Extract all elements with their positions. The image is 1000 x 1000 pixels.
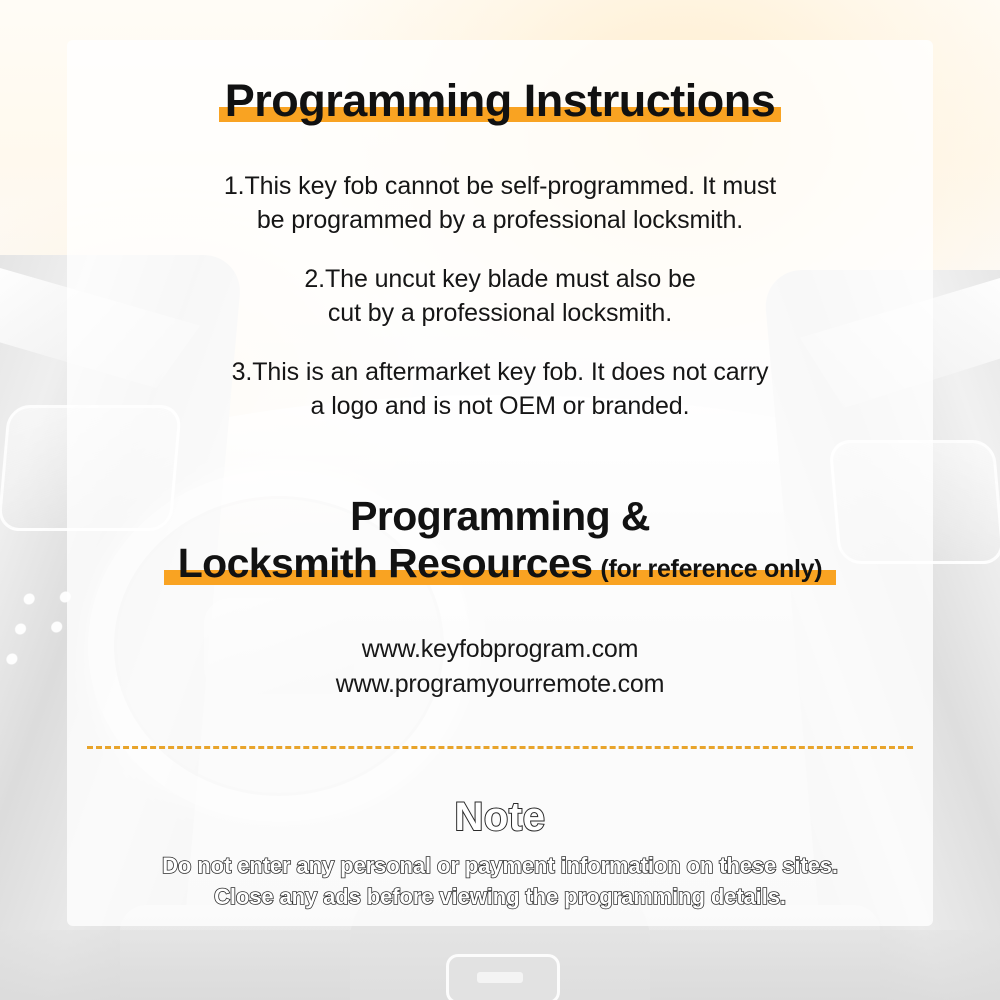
page-title-text: Programming Instructions — [225, 75, 776, 126]
resource-link-2[interactable]: www.programyourremote.com — [67, 667, 933, 702]
note-section: Note Do not enter any personal or paymen… — [67, 796, 933, 912]
resources-heading-line2-container: Locksmith Resources(for reference only) — [174, 540, 827, 587]
note-line-1: Do not enter any personal or payment inf… — [67, 850, 933, 881]
content-card: Programming Instructions 1.This key fob … — [67, 40, 933, 926]
note-title: Note — [67, 796, 933, 838]
dashed-divider — [87, 746, 913, 749]
resources-heading-main-text: Locksmith Resources — [178, 540, 593, 586]
resources-heading-line2: Locksmith Resources(for reference only) — [178, 564, 823, 581]
page-title: Programming Instructions — [219, 78, 782, 123]
instruction-item-1: 1.This key fob cannot be self-programmed… — [67, 170, 933, 237]
note-line-2: Close any ads before viewing the program… — [67, 881, 933, 912]
title-container: Programming Instructions — [67, 78, 933, 123]
instructions-list: 1.This key fob cannot be self-programmed… — [67, 170, 933, 423]
instruction-item-2: 2.The uncut key blade must also be cut b… — [67, 263, 933, 330]
resources-heading-line1: Programming & — [67, 495, 933, 538]
card-content: Programming Instructions 1.This key fob … — [67, 40, 933, 926]
resource-links-list: www.keyfobprogram.com www.programyourrem… — [67, 632, 933, 702]
resources-heading-suffix-text: (for reference only) — [600, 555, 822, 583]
instruction-item-3: 3.This is an aftermarket key fob. It doe… — [67, 356, 933, 423]
instruction-card-image: Programming Instructions 1.This key fob … — [0, 0, 1000, 1000]
resources-heading-container: Programming & Locksmith Resources(for re… — [67, 495, 933, 587]
resource-link-1[interactable]: www.keyfobprogram.com — [67, 632, 933, 667]
